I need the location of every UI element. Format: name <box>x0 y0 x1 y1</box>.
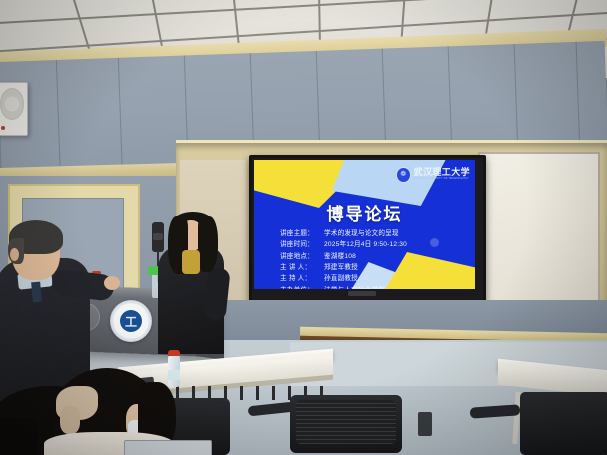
display-brand-badge <box>348 291 376 296</box>
audience-hair-clip-lower <box>60 406 80 434</box>
speaker-hand <box>104 276 120 290</box>
slide-info-value: 鉴湖楼108 <box>324 251 356 262</box>
university-seal-icon: ❁ <box>396 167 411 183</box>
audience-ponytail-left <box>0 418 38 455</box>
audience-tablet[interactable] <box>124 440 212 455</box>
chair-right[interactable] <box>520 392 607 455</box>
slide-info-label: 讲座主题： <box>280 228 324 239</box>
water-bottle-table-cap <box>168 350 180 356</box>
slide-info-label: 主办单位： <box>280 285 324 289</box>
host-hair-right <box>198 216 218 272</box>
slide-info-value: 2025年12月4日 9:50-12:30 <box>324 239 407 250</box>
slide-info-value: 学术的发现与论文的呈现 <box>324 228 399 239</box>
university-name-cn: 武汉理工大学 <box>414 168 470 177</box>
slide-watermark-dot <box>430 238 439 247</box>
university-logo: ❁ 武汉理工大学 WUHAN UNIVERSITY OF TECHNOLOGY <box>396 166 470 183</box>
university-name-en: WUHAN UNIVERSITY OF TECHNOLOGY <box>414 178 470 181</box>
speaker-grill-icon <box>0 88 24 120</box>
slide-info-label: 主 讲 人： <box>280 262 324 273</box>
slide-info-value: 孙直副教授 <box>324 273 358 284</box>
slide-info-row: 主 持 人： 孙直副教授 <box>280 273 458 284</box>
water-bottle-label <box>168 370 180 380</box>
presentation-slide[interactable]: ❁ 武汉理工大学 WUHAN UNIVERSITY OF TECHNOLOGY … <box>254 160 475 289</box>
slide-info-list: 讲座主题： 学术的发现与论文的呈现 讲座时间： 2025年12月4日 9:50-… <box>280 228 458 289</box>
slide-info-row: 主办单位： 法学与人文社会学院 <box>280 285 458 289</box>
slide-info-value: 郑建军教授 <box>324 262 358 273</box>
university-seal-glyph: ❁ <box>400 171 406 178</box>
slide-info-label: 讲座地点： <box>280 251 324 262</box>
speaker-tie <box>31 282 42 303</box>
speaker-led-icon <box>1 126 5 130</box>
slide-info-value: 法学与人文社会学院 <box>324 285 385 289</box>
lecture-hall-photo: ❁ 武汉理工大学 WUHAN UNIVERSITY OF TECHNOLOGY … <box>0 0 607 455</box>
speaker-ear <box>10 248 19 261</box>
slide-info-row: 主 讲 人： 郑建军教授 <box>280 262 458 273</box>
slide-title: 博导论坛 <box>254 200 475 225</box>
wall-phone-icon[interactable] <box>152 222 164 252</box>
floor-power-box[interactable] <box>418 412 432 436</box>
host-scarf <box>182 250 200 274</box>
lectern-university-seal: 工 <box>110 300 152 342</box>
slide-info-label: 讲座时间： <box>280 239 324 250</box>
wall-speaker <box>0 82 28 136</box>
chair-middle-mesh-back <box>296 400 396 444</box>
slide-info-row: 讲座地点： 鉴湖楼108 <box>280 251 458 262</box>
lectern-seal-glyph: 工 <box>120 310 142 332</box>
slide-info-label: 主 持 人： <box>280 273 324 284</box>
university-name-block: 武汉理工大学 WUHAN UNIVERSITY OF TECHNOLOGY <box>414 168 470 181</box>
whiteboard[interactable] <box>478 152 600 308</box>
